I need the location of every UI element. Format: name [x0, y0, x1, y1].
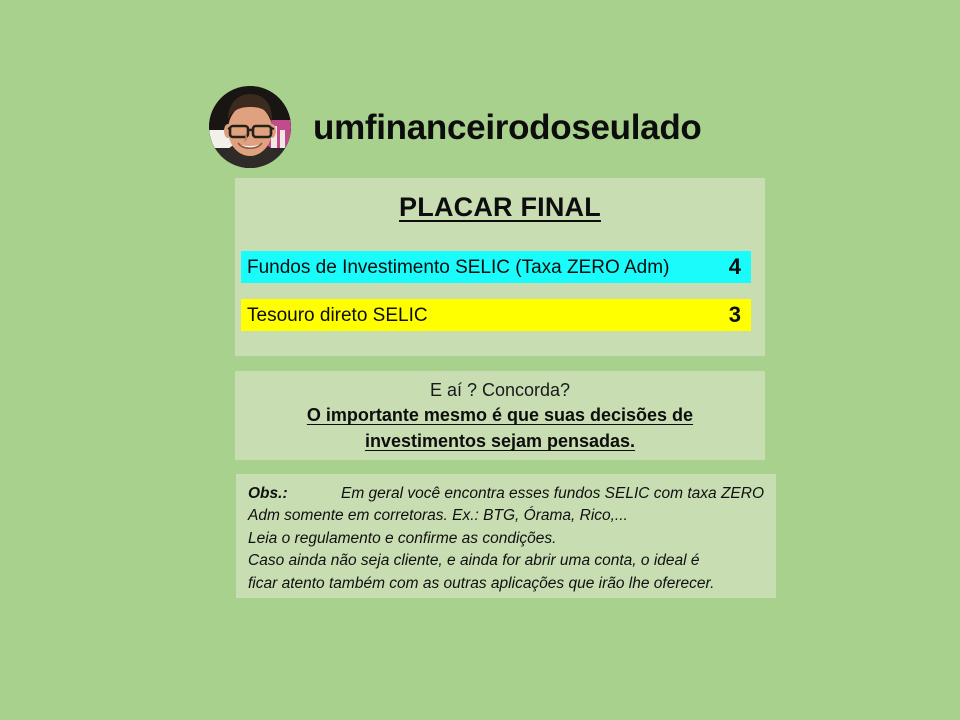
emphasis-line-1: O importante mesmo é que suas decisões d… — [235, 402, 765, 428]
note-line-1-text: Em geral você encontra esses fundos SELI… — [341, 483, 764, 505]
scoreboard-panel: PLACAR FINAL Fundos de Investimento SELI… — [235, 178, 765, 356]
question-panel: E aí ? Concorda? O importante mesmo é qu… — [235, 371, 765, 460]
emphasis-line-2: investimentos sejam pensadas. — [235, 428, 765, 454]
note-line-2: Adm somente em corretoras. Ex.: BTG, Óra… — [248, 505, 764, 527]
score-row-fundos-investimento: Fundos de Investimento SELIC (Taxa ZERO … — [241, 251, 751, 283]
brand-header: umfinanceirodoseulado — [209, 86, 701, 168]
scoreboard-title: PLACAR FINAL — [235, 192, 765, 223]
note-line-4: Caso ainda não seja cliente, e ainda for… — [248, 550, 764, 572]
note-line-3: Leia o regulamento e confirme as condiçõ… — [248, 528, 764, 550]
score-label-fundos: Fundos de Investimento SELIC (Taxa ZERO … — [247, 258, 669, 277]
score-row-tesouro-direto: Tesouro direto SELIC 3 — [241, 299, 751, 331]
brand-name: umfinanceirodoseulado — [313, 110, 701, 145]
score-value-tesouro: 3 — [729, 304, 743, 326]
note-line-5: ficar atento também com as outras aplica… — [248, 573, 764, 595]
question-prompt: E aí ? Concorda? — [235, 378, 765, 402]
note-line-1: Obs.: Em geral você encontra esses fundo… — [248, 483, 764, 505]
note-panel: Obs.: Em geral você encontra esses fundo… — [236, 474, 776, 598]
score-value-fundos: 4 — [729, 256, 743, 278]
score-label-tesouro: Tesouro direto SELIC — [247, 306, 428, 325]
note-label: Obs.: — [248, 483, 288, 505]
avatar — [209, 86, 291, 168]
